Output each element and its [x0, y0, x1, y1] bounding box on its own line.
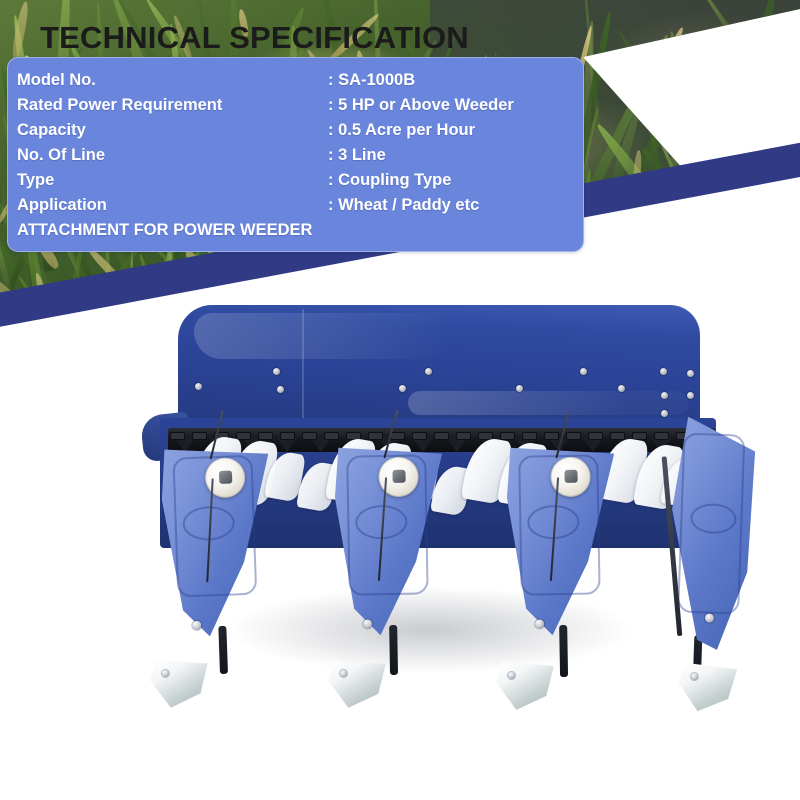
spec-value: : SA-1000B: [328, 71, 415, 90]
cutter-bar-link: [588, 432, 603, 440]
divider-leg: [218, 626, 228, 674]
back-panel-seam: [302, 309, 304, 427]
cutter-bar-link: [412, 432, 427, 440]
rivet: [661, 410, 668, 417]
spec-row: Application: Wheat / Paddy etc: [8, 193, 583, 218]
cutter-bar-link: [280, 432, 295, 440]
rivet: [195, 383, 202, 390]
product-spec-banner: TECHNICAL SPECIFICATION Model No.: SA-10…: [0, 0, 800, 800]
spec-value: : 3 Line: [328, 146, 386, 165]
spec-label: Capacity: [17, 121, 86, 140]
divider-bolt: [535, 619, 544, 628]
cutter-bar-link: [170, 432, 185, 440]
spec-value: : Wheat / Paddy etc: [328, 196, 479, 215]
back-panel-gloss: [408, 391, 688, 415]
cutter-bar-link: [566, 432, 581, 440]
spec-row-footer: ATTACHMENT FOR POWER WEEDER: [8, 218, 583, 243]
page-title: TECHNICAL SPECIFICATION: [40, 20, 469, 56]
divider-shoe-tip: [149, 658, 209, 708]
divider-bolt: [192, 621, 201, 630]
spec-value: : Coupling Type: [328, 171, 451, 190]
specification-rows: Model No.: SA-1000BRated Power Requireme…: [8, 58, 583, 243]
rivet: [399, 385, 406, 392]
rivet: [273, 368, 280, 375]
rivet: [687, 392, 694, 399]
spec-label: Rated Power Requirement: [17, 96, 222, 115]
spec-label: No. Of Line: [17, 146, 105, 165]
spec-label: Type: [17, 171, 54, 190]
divider-leg: [389, 625, 398, 675]
divider-shoe-tip: [328, 659, 387, 708]
spec-label: Model No.: [17, 71, 96, 90]
cutter-bar-link: [390, 432, 405, 440]
divider-bolt: [363, 619, 372, 628]
technical-specification-panel: Model No.: SA-1000BRated Power Requireme…: [7, 57, 584, 252]
back-panel-sheen: [194, 313, 534, 359]
cutter-bar-link: [258, 432, 273, 440]
spec-row: Model No.: SA-1000B: [8, 68, 583, 93]
rivet: [277, 386, 284, 393]
divider-shoe-tip: [678, 663, 738, 713]
cutter-bar-link: [324, 432, 339, 440]
rivet: [660, 368, 667, 375]
machine-back-panel: [178, 305, 700, 431]
cutter-bar-link: [610, 432, 625, 440]
shoe-bolt: [508, 672, 515, 679]
divider-shoe-tip: [496, 661, 555, 710]
spec-row: Rated Power Requirement: 5 HP or Above W…: [8, 93, 583, 118]
cutter-bar-link: [500, 432, 515, 440]
cutter-bar-link: [192, 432, 207, 440]
rivet: [687, 370, 694, 377]
spec-value: : 5 HP or Above Weeder: [328, 96, 514, 115]
rivet: [425, 368, 432, 375]
cutter-bar-link: [522, 432, 537, 440]
cutter-bar-link: [368, 432, 383, 440]
rivet: [661, 392, 668, 399]
rivet: [516, 385, 523, 392]
cutter-bar-link: [654, 432, 669, 440]
rivet: [580, 368, 587, 375]
disc-nut: [564, 470, 577, 483]
spec-value: : 0.5 Acre per Hour: [328, 121, 475, 140]
cutter-bar-link: [456, 432, 471, 440]
disc-nut: [219, 471, 232, 484]
spec-row: Type: Coupling Type: [8, 168, 583, 193]
cutter-bar-link: [302, 432, 317, 440]
divider-leg: [559, 625, 568, 677]
rivet: [618, 385, 625, 392]
cutter-bar-link: [434, 432, 449, 440]
spec-label: ATTACHMENT FOR POWER WEEDER: [17, 221, 312, 240]
spec-label: Application: [17, 196, 107, 215]
shoe-bolt: [340, 670, 347, 677]
spec-row: Capacity: 0.5 Acre per Hour: [8, 118, 583, 143]
spec-row: No. Of Line: 3 Line: [8, 143, 583, 168]
cutter-bar-link: [544, 432, 559, 440]
disc-nut: [392, 470, 405, 483]
